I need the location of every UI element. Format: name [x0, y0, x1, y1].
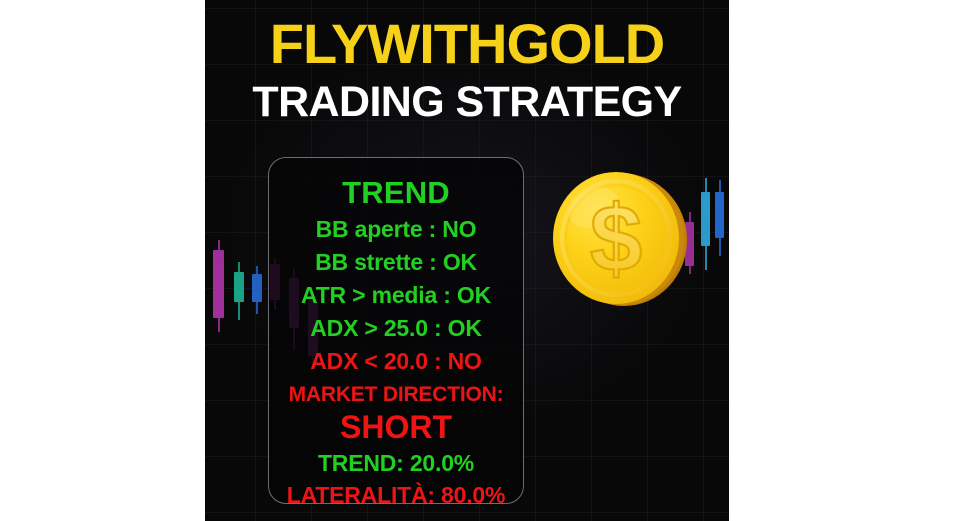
panel-row-adx-above: ADX > 25.0 : OK — [269, 317, 523, 340]
poster-canvas: FLYWITHGOLD TRADING STRATEGY TREND BB ap… — [0, 0, 960, 521]
trend-percentage: TREND: 20.0% — [269, 452, 523, 475]
page-title: FLYWITHGOLD — [205, 16, 729, 72]
market-direction-label: MARKET DIRECTION: — [269, 384, 523, 405]
candle — [715, 180, 724, 256]
strategy-info-panel: TREND BB aperte : NO BB strette : OK ATR… — [268, 157, 524, 504]
candle — [213, 240, 224, 332]
panel-row-bb-strette: BB strette : OK — [269, 251, 523, 274]
gold-dollar-coin-icon: $ — [546, 164, 694, 312]
candle — [252, 266, 262, 314]
candle — [234, 262, 244, 320]
panel-section-title: TREND — [269, 177, 523, 208]
panel-row-bb-aperte: BB aperte : NO — [269, 218, 523, 241]
svg-text:$: $ — [590, 186, 642, 291]
page-subtitle: TRADING STRATEGY — [205, 81, 729, 124]
poster-title-block: FLYWITHGOLD TRADING STRATEGY — [205, 16, 729, 124]
lateralita-percentage: LATERALITÀ: 80.0% — [269, 484, 523, 504]
panel-row-atr-media: ATR > media : OK — [269, 284, 523, 307]
dollar-symbol: $ — [590, 186, 642, 291]
candle — [701, 178, 710, 270]
market-direction-value: SHORT — [269, 411, 523, 443]
panel-row-adx-below: ADX < 20.0 : NO — [269, 350, 523, 373]
